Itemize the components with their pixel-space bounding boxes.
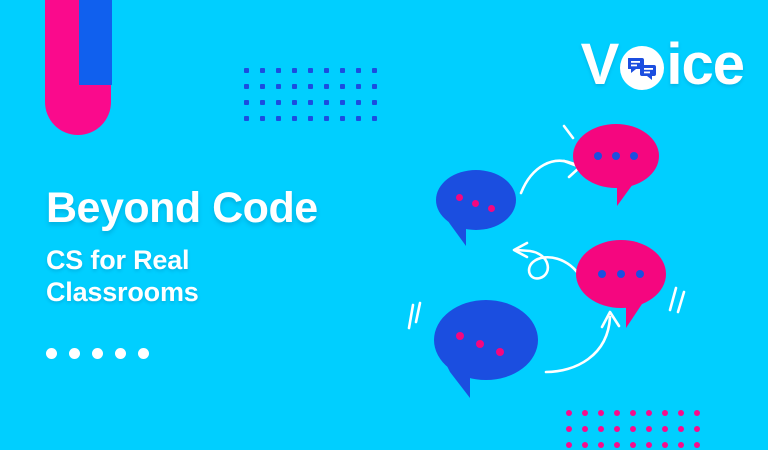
bubble-blue-bot [434,300,538,380]
grid-dot [646,426,652,432]
grid-dot [372,100,377,105]
grid-dot [372,68,377,73]
page-subtitle: CS for Real Classrooms [46,245,318,309]
grid-dot [662,410,668,416]
grid-dot [276,84,281,89]
grid-dot [324,116,329,121]
bubble-blue-mid [436,170,516,230]
grid-dot [276,100,281,105]
grid-dot [308,100,313,105]
grid-dot [694,442,700,448]
logo-mark [0,0,130,150]
grid-dot [598,426,604,432]
headline-block: Beyond Code CS for Real Classrooms [46,186,318,309]
grid-dot [678,410,684,416]
grid-dot [614,410,620,416]
grid-dot [244,116,249,121]
grid-dot [260,100,265,105]
grid-dot [276,68,281,73]
grid-dot [694,410,700,416]
grid-dot [566,442,572,448]
grid-dot [292,68,297,73]
accent-dot [69,348,80,359]
grid-dot [340,84,345,89]
grid-dot [244,68,249,73]
grid-dot [292,84,297,89]
grid-dot [276,116,281,121]
bubble-dots [434,300,538,380]
bubble-dots [573,124,659,188]
grid-dot [324,84,329,89]
arrow-curve-right-shaft [521,161,578,193]
page-title: Beyond Code [46,186,318,231]
subtitle-line-2: Classrooms [46,277,318,309]
grid-dot [292,116,297,121]
grid-dot [292,100,297,105]
accent-dot [92,348,103,359]
grid-dot [582,410,588,416]
bubble-dots [576,240,666,308]
bubble-dots [436,170,516,230]
grid-dot [582,426,588,432]
accent-dot [46,348,57,359]
grid-dot [324,68,329,73]
accent-dot-row [46,348,149,359]
grid-dot [308,84,313,89]
tick-accent-5 [564,126,573,138]
poster-canvas: V ice Beyond Code CS for Real Classrooms [0,0,768,450]
grid-dot [566,426,572,432]
grid-dot [582,442,588,448]
tick-accent-4 [678,292,684,312]
grid-dot [598,410,604,416]
tick-accent-2 [416,303,420,322]
grid-dot [662,426,668,432]
tick-accent-1 [409,305,413,328]
grid-dot [598,442,604,448]
grid-dot [308,116,313,121]
grid-dot [678,442,684,448]
grid-dot [662,442,668,448]
grid-dot [308,68,313,73]
grid-dot [630,410,636,416]
subtitle-line-1: CS for Real [46,245,318,277]
grid-dot [244,100,249,105]
grid-dot [630,426,636,432]
bubble-pink-bot [576,240,666,308]
grid-dot [356,100,361,105]
grid-dot [260,84,265,89]
grid-dot [340,116,345,121]
accent-dot [138,348,149,359]
grid-dot [356,68,361,73]
wordmark-suffix: ice [666,36,744,94]
grid-dot [694,426,700,432]
grid-dot [244,84,249,89]
grid-dot [260,68,265,73]
speech-bubbles-icon [620,46,664,90]
arrow-curve-up-shaft [546,317,610,372]
grid-dot [356,116,361,121]
grid-dot [566,410,572,416]
tick-accent-3 [670,288,676,310]
grid-dot [340,100,345,105]
arrow-curve-left-shaft [517,250,581,278]
grid-dot [614,426,620,432]
bottom-dot-grid [566,410,710,450]
grid-dot [372,84,377,89]
grid-dot [630,442,636,448]
arrow-curve-up-head [602,312,619,327]
grid-dot [646,442,652,448]
grid-dot [260,116,265,121]
grid-dot [340,68,345,73]
grid-dot [646,410,652,416]
accent-dot [115,348,126,359]
wordmark-prefix: V [581,36,619,94]
arrow-curve-left-head [514,243,527,257]
top-dot-grid [244,68,388,132]
grid-dot [678,426,684,432]
grid-dot [324,100,329,105]
grid-dot [372,116,377,121]
grid-dot [614,442,620,448]
blue-bar-mark [79,0,112,85]
voice-wordmark: V ice [581,36,744,94]
bubble-pink-top [573,124,659,188]
grid-dot [356,84,361,89]
